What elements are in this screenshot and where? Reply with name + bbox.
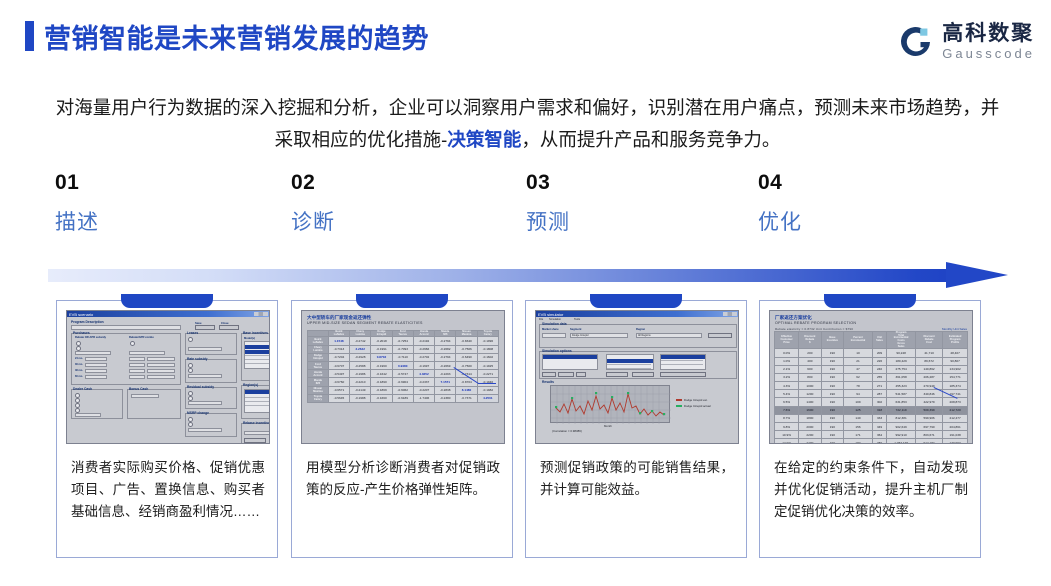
matrix-cell: -0.7506 — [456, 345, 477, 353]
matrix-cell: -0.6760 — [328, 378, 349, 386]
card-caption: 在给定的约束条件下，自动发现并优化促销活动，提升主机厂制定促销优化决策的效率。 — [774, 457, 968, 523]
mini-menu-item: Simulation — [549, 318, 561, 321]
matrix-cell: -0.1960 — [371, 362, 392, 370]
matrix-cell: -0.1660 — [371, 394, 392, 402]
optimal-cell: 2.1% — [775, 365, 799, 373]
matrix-cell: -0.5497 — [328, 370, 349, 378]
matrix-cell: -0.1890 — [371, 378, 392, 386]
simulation-line-chart — [551, 386, 671, 424]
optimal-cell: 209 — [872, 349, 886, 357]
optimal-cell: 318 — [872, 406, 886, 414]
table-row: 0.0%2001901020990,24841,71048,407 — [775, 349, 968, 357]
mini-label: 36 mo. — [75, 363, 83, 366]
mini-label: Dealer Cash — [73, 387, 92, 391]
optimal-cell: 90,807 — [943, 357, 968, 365]
optimal-cell: 206,287 — [915, 373, 942, 381]
optimal-cell: 5.4% — [775, 390, 799, 398]
optimal-cell: 1000 — [799, 382, 821, 390]
mini-label: Region — [636, 328, 645, 331]
optimal-cell: 78 — [844, 382, 873, 390]
step-label: 预测 — [526, 212, 570, 233]
optimal-cell: 6.5% — [775, 398, 799, 406]
optimal-cell: 187 — [844, 439, 873, 444]
cards-row: EVB scenario Program Description Save Cl… — [0, 296, 1051, 566]
matrix-cell: -0.1808 — [477, 345, 498, 353]
optimal-cell: 190 — [821, 414, 844, 422]
matrix-cell: -0.2149 — [350, 386, 371, 394]
mini-label: Program Description — [71, 320, 104, 324]
matrix-cell: -0.1991 — [371, 345, 392, 353]
mini-label: Region(s) — [243, 383, 258, 387]
optimal-cell: 21 — [844, 357, 873, 365]
optimal-cell: 240 — [872, 365, 886, 373]
mini-label: 48 mo. — [75, 369, 83, 372]
table-row: 12.0%24001901873801,083,178912,184170,99… — [775, 439, 968, 444]
optimal-cell: 333 — [872, 414, 886, 422]
step-label: 诊断 — [291, 212, 335, 233]
legend-label: Dodge Intrepid actual — [684, 404, 711, 408]
optimal-cell: 400 — [799, 357, 821, 365]
step-label: 描述 — [55, 212, 99, 233]
card-tab — [121, 294, 213, 308]
optimal-cell: 140 — [844, 414, 873, 422]
step-label: 优化 — [758, 212, 802, 233]
card-diagnose[interactable]: 大中型轿车的厂家现金返还弹性 UPPER MID-SIZE SEDAN SEGM… — [291, 300, 513, 558]
step-01: 01 描述 — [55, 172, 99, 233]
optimal-cell: 422,979 — [915, 398, 942, 406]
optimal-cell: 599,906 — [915, 414, 942, 422]
brand-logo: 高科数聚 Gausscode — [896, 18, 1035, 66]
optimal-cell: 255 — [872, 373, 886, 381]
optimal-cell: 125 — [844, 406, 873, 414]
optimal-cell: 90,248 — [887, 349, 916, 357]
table-row: 10.9%2200190171364992,910803,671191,038 — [775, 431, 968, 439]
matrix-cell: -0.2928 — [350, 353, 371, 361]
table-row: 8.7%1800190140333812,381599,906212,477 — [775, 414, 968, 422]
mini-label: Market share — [542, 328, 559, 331]
optimal-cell: 1.0% — [775, 357, 799, 365]
table-row: 5.4%120019094287541,587340,846197,741 — [775, 390, 968, 398]
legend-swatch — [676, 405, 682, 407]
screenshot-simulation-chart: EVB simulator File Simulation Tools Simu… — [535, 310, 739, 444]
matrix-cell: -0.7204 — [328, 353, 349, 361]
optimal-cell: 171 — [844, 431, 873, 439]
optimal-cell: 541,587 — [887, 390, 916, 398]
optimal-cell: 89,672 — [915, 357, 942, 365]
card-predict[interactable]: EVB simulator File Simulation Tools Simu… — [525, 300, 747, 558]
mini-label: Rebate OR APR subsidy — [75, 336, 106, 339]
optimal-col-header: ProgramTotalIncrementalCostsGrossSales — [887, 332, 916, 349]
logo-text-en: Gausscode — [942, 46, 1035, 62]
matrix-row-header: DodgeIntrepid — [308, 353, 329, 361]
table-row: ToyotaCamry-0.5645-0.1988-0.1660-0.6189-… — [308, 394, 499, 402]
matrix-cell: -0.2018 — [371, 337, 392, 345]
optimal-cell: 455,323 — [887, 382, 916, 390]
matrix-cell: -0.2794 — [435, 337, 456, 345]
optimal-cell: 134,902 — [943, 365, 968, 373]
optimal-cell: 190 — [821, 365, 844, 373]
matrix-cell: -0.6490 — [456, 353, 477, 361]
mini-label: Rebate/APR combo — [129, 336, 154, 339]
matrix-cell: -0.1940 — [477, 378, 498, 386]
matrix-cell: -0.7313 — [328, 345, 349, 353]
optimal-cell: 349 — [872, 423, 886, 431]
matrix-cell: -0.5747 — [392, 370, 413, 378]
page-title: 营销智能是未来营销发展的趋势 — [44, 17, 429, 56]
logo-text-cn: 高科数聚 — [942, 23, 1035, 45]
matrix-cell: -0.2682 — [435, 345, 456, 353]
matrix-cell: -0.2293 — [435, 370, 456, 378]
optimal-cell: 1800 — [799, 414, 821, 422]
optimal-cell: 600 — [799, 365, 821, 373]
optimal-col-header: BaseIncentive — [821, 332, 844, 349]
optimal-cell: 190 — [821, 382, 844, 390]
optimal-cell: 3.2% — [775, 373, 799, 381]
optimal-cell: 8.7% — [775, 414, 799, 422]
matrix-row-header: BuickLeSabre — [308, 337, 329, 345]
matrix-cell: -0.2702 — [413, 353, 434, 361]
screenshot-optimal-table: 厂家返还方案优化 OPTIMAL REBATE PROGRAM SELECTIO… — [769, 310, 973, 444]
optimal-cell: 364 — [872, 431, 886, 439]
optimal-cell: 1200 — [799, 390, 821, 398]
card-caption: 用模型分析诊断消费者对促销政策的反应-产生价格弹性矩阵。 — [306, 457, 500, 501]
paragraph-highlight: 决策智能 — [447, 129, 521, 150]
mini-select-value: All Regions — [638, 334, 651, 337]
mini-select-value: Dodge Intrepid — [572, 334, 588, 337]
table-row: 9.8%2000190156349902,649697,790204,861 — [775, 423, 968, 431]
mini-label: 24 mo. — [75, 357, 83, 360]
matrix-row-header: NissanMaxima — [308, 386, 329, 394]
mini-label: Segment — [570, 328, 581, 331]
optimal-cell: 62 — [844, 373, 873, 381]
mini-label: Simulation data — [542, 322, 567, 326]
matrix-cell: -0.2207 — [413, 386, 434, 394]
table-row: 1.0%40019021226180,42989,67290,807 — [775, 357, 968, 365]
matrix-row-header: Mazda626 — [308, 378, 329, 386]
arrow-head-icon — [946, 262, 1008, 288]
table-row: 6.5%1400190109302631,853422,979208,873 — [775, 398, 968, 406]
mini-label: Leases — [187, 331, 198, 335]
matrix-cell: -0.1642 — [371, 370, 392, 378]
gausscode-logo-icon — [896, 22, 936, 62]
mini-label: Base incentives — [243, 331, 268, 335]
table-row: DodgeIntrepid-0.7204-0.29280.8702-0.7110… — [308, 353, 499, 361]
optimal-cell: 140,862 — [915, 365, 942, 373]
matrix-cell: -0.7093 — [392, 345, 413, 353]
matrix-cell: -0.1697 — [413, 362, 434, 370]
optimal-cell: 180,429 — [887, 357, 916, 365]
mini-label: Model(s) — [244, 337, 255, 340]
matrix-cell: -0.6707 — [328, 362, 349, 370]
matrix-cell: -0.7500 — [456, 362, 477, 370]
optimal-cell: 190 — [821, 439, 844, 444]
optimal-cell: 190 — [821, 357, 844, 365]
optimal-cell: 803,671 — [915, 431, 942, 439]
optimal-cell: 2000 — [799, 423, 821, 431]
paragraph-part-2: ，从而提升产品和服务竞争力。 — [521, 129, 780, 150]
step-03: 03 预测 — [526, 172, 570, 233]
optimal-cell: 287 — [872, 390, 886, 398]
matrix-cell: -1.7406 — [413, 394, 434, 402]
matrix-row-header: FordTaurus — [308, 362, 329, 370]
step-02: 02 诊断 — [291, 172, 335, 233]
matrix-cell: -0.2588 — [350, 362, 371, 370]
mini-label: Residual subsidy — [187, 385, 214, 389]
elasticity-table: BuickLaSabreChevyLuminaDodgeIntrepidFord… — [307, 330, 499, 403]
optimal-col-header: EffectiveCustomerPrice — [775, 332, 799, 349]
progress-arrow — [48, 262, 1008, 288]
matrix-cell: -0.2210 — [350, 378, 371, 386]
matrix-cell: -0.2380 — [435, 394, 456, 402]
optimal-cell: 94 — [844, 390, 873, 398]
mini-label: Simulation options — [542, 349, 572, 353]
optimal-cell: 154,771 — [943, 373, 968, 381]
mini-label: MSRP change — [187, 411, 209, 415]
mini-button-label: Close — [221, 321, 229, 325]
optimal-cell: 7.6% — [775, 406, 799, 414]
steps-row: 01 描述 02 诊断 03 预测 04 优化 — [0, 172, 1051, 252]
matrix-row-header: ChevyLumina — [308, 345, 329, 353]
screenshot-form-dialog: EVB scenario Program Description Save Cl… — [66, 310, 270, 444]
matrix-cell: -0.7110 — [392, 353, 413, 361]
optimal-cell: 992,910 — [887, 431, 916, 439]
matrix-cell: -0.1988 — [350, 394, 371, 402]
optimal-cell: 631,853 — [887, 398, 916, 406]
optimal-cell: 800 — [799, 373, 821, 381]
optimal-cell: 340,846 — [915, 390, 942, 398]
mini-window-title: EVB simulator — [538, 312, 563, 317]
optimal-cell: 2200 — [799, 431, 821, 439]
mini-label: Rebase incentives — [243, 421, 270, 425]
matrix-cell: -0.2192 — [413, 337, 434, 345]
step-number: 02 — [291, 172, 335, 193]
optimal-cell: 212,477 — [943, 414, 968, 422]
optimal-cell: 48,407 — [943, 349, 968, 357]
optimal-cell: 170,993 — [943, 439, 968, 444]
optimal-title-en: OPTIMAL REBATE PROGRAM SELECTION — [775, 321, 856, 325]
table-row: FordTaurus-0.6707-0.2588-0.19600.9480-0.… — [308, 362, 499, 370]
matrix-cell: 8.1480 — [456, 386, 477, 394]
matrix-cell: 2.2622 — [350, 345, 371, 353]
card-caption: 预测促销政策的可能销售结果，并计算可能效益。 — [540, 457, 734, 501]
optimal-cell: 226 — [872, 357, 886, 365]
optimal-cell: 509,399 — [915, 406, 942, 414]
matrix-cell: -0.8340 — [456, 337, 477, 345]
optimal-cell: 190 — [821, 423, 844, 431]
card-tab — [824, 294, 916, 308]
optimal-cell: 191,038 — [943, 431, 968, 439]
optimal-cell: 812,381 — [887, 414, 916, 422]
optimal-cell: 361,058 — [887, 373, 916, 381]
arrow-bar — [48, 269, 963, 282]
card-tab — [356, 294, 448, 308]
matrix-cell: 4.2501 — [477, 394, 498, 402]
chart-xlabel: Month — [604, 424, 612, 428]
matrix-cell: -0.2669 — [435, 362, 456, 370]
matrix-cell: -0.1986 — [350, 370, 371, 378]
optimal-cell: 47 — [844, 365, 873, 373]
mini-window-title: EVB scenario — [69, 312, 93, 317]
mini-label: Purchases — [73, 331, 90, 335]
optimal-col-header: PercentIncremental — [844, 332, 873, 349]
page-header: 营销智能是未来营销发展的趋势 高科数聚 Gausscode — [0, 0, 1051, 72]
optimal-cell: 1,083,178 — [887, 439, 916, 444]
mini-label: 60 mo. — [75, 375, 83, 378]
matrix-cell: -0.1996 — [477, 337, 498, 345]
card-optimize[interactable]: 厂家返还方案优化 OPTIMAL REBATE PROGRAM SELECTIO… — [759, 300, 981, 558]
card-caption: 消费者实际购买价格、促销优惠项目、广告、置换信息、购买者基础信息、经销商盈利情况… — [71, 457, 265, 523]
optimal-cell: 204,861 — [943, 423, 968, 431]
matrix-cell: -0.7254 — [392, 337, 413, 345]
matrix-cell: 7.1571 — [435, 378, 456, 386]
optimal-cell: 200 — [799, 349, 821, 357]
intro-paragraph: 对海量用户行为数据的深入挖掘和分析，企业可以洞察用户需求和偏好，识别潜在用户痛点… — [50, 92, 1005, 157]
optimal-cell: 10.9% — [775, 431, 799, 439]
optimal-cell: 722,119 — [887, 406, 916, 414]
matrix-cell: -0.6904 — [392, 378, 413, 386]
matrix-cell: -0.6571 — [328, 386, 349, 394]
optimal-cell: 2400 — [799, 439, 821, 444]
table-row: 7.6%1600190125318722,119509,399212,720 — [775, 406, 968, 414]
optimal-cell: 697,790 — [915, 423, 942, 431]
card-tab — [590, 294, 682, 308]
table-row: 3.2%80019062255361,058206,287154,771 — [775, 373, 968, 381]
matrix-cell: 0.8702 — [371, 353, 392, 361]
title-accent-bar — [25, 21, 34, 51]
matrix-row-header: HondaAccord — [308, 370, 329, 378]
mini-label: Results — [542, 380, 554, 384]
optimal-col-header: UnitSales — [872, 332, 886, 349]
matrix-cell: 0.9480 — [392, 362, 413, 370]
optimal-cell: 208,873 — [943, 398, 968, 406]
matrix-cell: -0.6189 — [392, 394, 413, 402]
optimal-cell: 190 — [821, 398, 844, 406]
matrix-cell: 1.1548 — [328, 337, 349, 345]
optimal-cell: 302 — [872, 398, 886, 406]
optimal-table: EffectiveCustomerPriceDiscountRebate$Bas… — [774, 331, 968, 444]
optimal-cell: 271 — [872, 382, 886, 390]
chart-footnote: (Correlation = 0.98386) — [552, 429, 582, 433]
optimal-cell: 10 — [844, 349, 873, 357]
optimal-cell: 190 — [821, 349, 844, 357]
step-number: 03 — [526, 172, 570, 193]
legend-label: Dodge Intrepid est. — [684, 398, 708, 402]
optimal-cell: 212,720 — [943, 406, 968, 414]
mini-label: Rate subsidy — [187, 357, 208, 361]
optimal-col-header: EstimatedProgramProfits — [943, 332, 968, 349]
screenshot-elasticity-matrix: 大中型轿车的厂家现金返还弹性 UPPER MID-SIZE SEDAN SEGM… — [301, 310, 505, 444]
matrix-cell: -0.1982 — [477, 386, 498, 394]
matrix-cell: -0.2838 — [435, 386, 456, 394]
optimal-cell: 380 — [872, 439, 886, 444]
legend-swatch — [676, 399, 682, 401]
optimal-cell: 190 — [821, 390, 844, 398]
step-number: 04 — [758, 172, 802, 193]
optimal-cell: 109 — [844, 398, 873, 406]
matrix-cell: -0.7371 — [456, 394, 477, 402]
matrix-cell: -0.1602 — [477, 353, 498, 361]
matrix-cell: -0.1925 — [477, 362, 498, 370]
step-04: 04 优化 — [758, 172, 802, 233]
optimal-cell: 902,649 — [887, 423, 916, 431]
optimal-cell: 41,710 — [915, 349, 942, 357]
optimal-cell: 275,754 — [887, 365, 916, 373]
matrix-cell: -0.2666 — [413, 345, 434, 353]
matrix-row-header: ToyotaCamry — [308, 394, 329, 402]
optimal-cell: 9.8% — [775, 423, 799, 431]
optimal-cell: 185,374 — [943, 382, 968, 390]
matrix-cell: -0.2337 — [413, 378, 434, 386]
optimal-col-header: DiscountRebateCost — [915, 332, 942, 349]
card-describe[interactable]: EVB scenario Program Description Save Cl… — [56, 300, 278, 558]
optimal-cell: 190 — [821, 373, 844, 381]
matrix-cell: -0.1869 — [371, 386, 392, 394]
mini-menu-item: Tools — [574, 318, 580, 321]
matrix-cell: 4.0252 — [413, 370, 434, 378]
matrix-cell: -0.6062 — [392, 386, 413, 394]
matrix-title-en: UPPER MID-SIZE SEDAN SEGMENT REBATE ELAS… — [307, 321, 423, 325]
optimal-cell: 1400 — [799, 398, 821, 406]
matrix-cell: -0.2794 — [435, 353, 456, 361]
optimal-cell: 156 — [844, 423, 873, 431]
optimal-cell: 12.0% — [775, 439, 799, 444]
step-number: 01 — [55, 172, 99, 193]
table-row: NissanMaxima-0.6571-0.2149-0.1869-0.6062… — [308, 386, 499, 394]
mini-menu-item: File — [539, 318, 543, 321]
table-row: ChevyLumina-0.73132.2622-0.1991-0.7093-0… — [308, 345, 499, 353]
optimal-cell: 190 — [821, 406, 844, 414]
optimal-corner-note: Monthly Unit Sales — [942, 327, 967, 331]
optimal-subtitle: Rebate elasticity = 0.8732 Unit Contribu… — [775, 327, 853, 331]
optimal-cell: 912,184 — [915, 439, 942, 444]
optimal-col-header: DiscountRebate$ — [799, 332, 821, 349]
table-row: BuickLeSabre1.1548-0.2742-0.2018-0.7254-… — [308, 337, 499, 345]
optimal-cell: 190 — [821, 431, 844, 439]
optimal-cell: 4.3% — [775, 382, 799, 390]
mini-button-label: Save — [195, 321, 202, 325]
matrix-cell: -0.2271 — [477, 370, 498, 378]
matrix-cell: -0.5645 — [328, 394, 349, 402]
optimal-cell: 1600 — [799, 406, 821, 414]
mini-label: Bonus Cash — [129, 387, 148, 391]
optimal-cell: 0.0% — [775, 349, 799, 357]
table-row: 2.1%60019047240275,754140,862134,902 — [775, 365, 968, 373]
matrix-cell: -0.2742 — [350, 337, 371, 345]
